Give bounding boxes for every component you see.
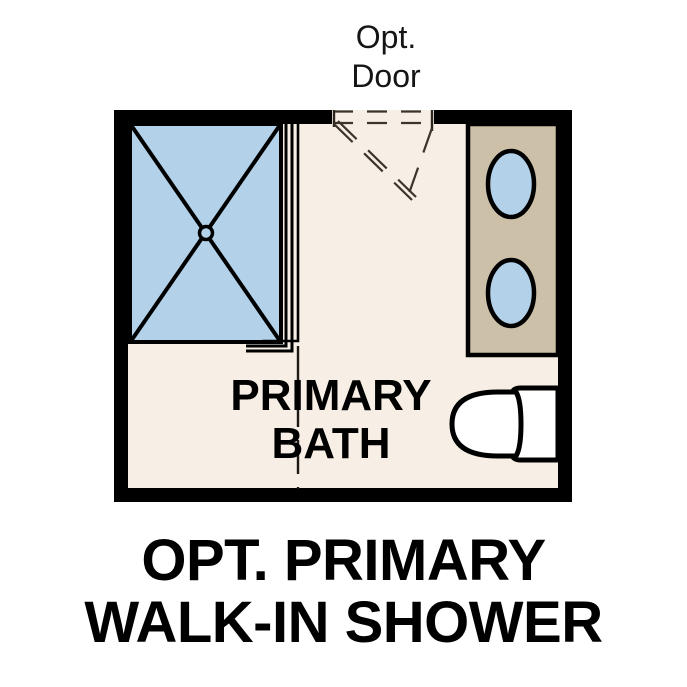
floor-plan-stage: Opt. Door xyxy=(0,0,687,687)
wall-left xyxy=(114,110,128,502)
plan-title: OPT. PRIMARY WALK-IN SHOWER xyxy=(0,530,687,654)
walk-in-shower xyxy=(130,122,298,351)
vanity-sink-upper xyxy=(488,151,534,217)
room-label-line2: BATH xyxy=(272,419,391,468)
wall-top-left-segment xyxy=(114,110,332,124)
double-vanity xyxy=(468,124,558,355)
room-label-line1: PRIMARY xyxy=(230,371,431,420)
vanity-sink-lower xyxy=(488,260,534,326)
toilet xyxy=(452,388,558,460)
shower-center-hub xyxy=(200,227,213,240)
wall-bottom xyxy=(114,488,572,502)
toilet-bowl xyxy=(452,392,521,456)
